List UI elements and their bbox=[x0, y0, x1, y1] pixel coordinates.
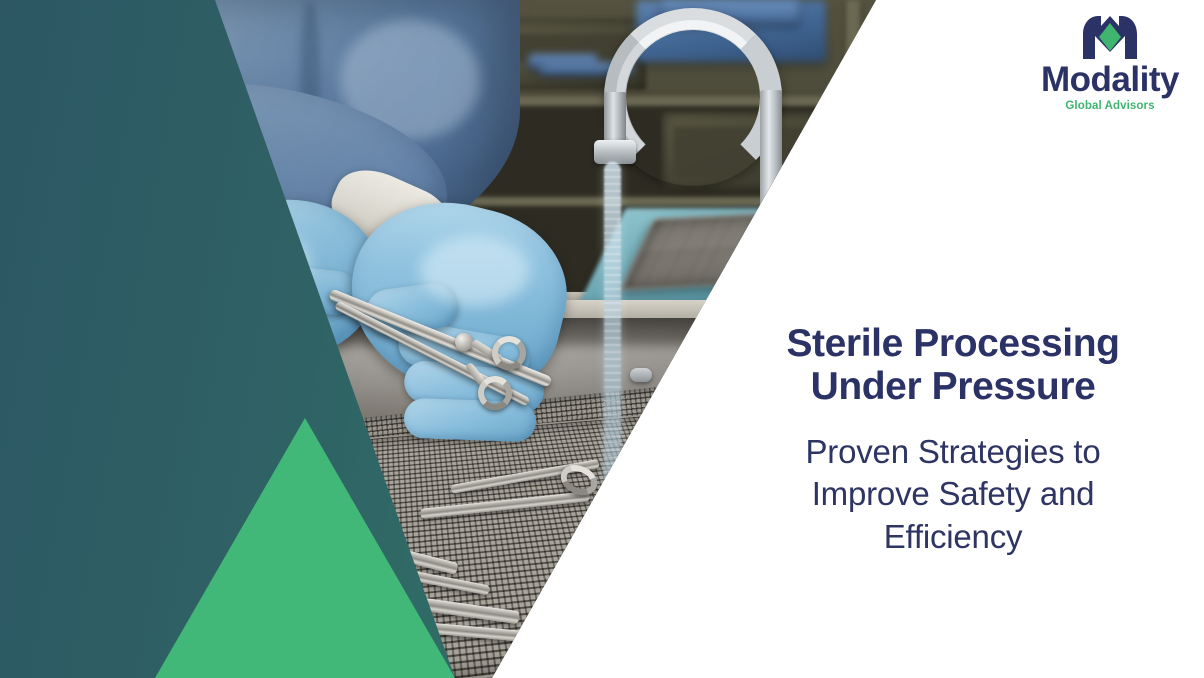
instrument-tray-upper bbox=[619, 206, 900, 291]
faucet-arc-highlight bbox=[616, 20, 770, 174]
glove-finger bbox=[403, 398, 536, 443]
hero-copy: Sterile Processing Under Pressure Proven… bbox=[712, 322, 1194, 559]
brand-logo[interactable]: Modality Global Advisors bbox=[1032, 14, 1188, 112]
hero-headline-line-1: Sterile Processing bbox=[786, 322, 1119, 365]
brand-tagline: Global Advisors bbox=[1032, 100, 1188, 112]
hero-subheadline: Proven Strategies to Improve Safety and … bbox=[712, 431, 1194, 560]
glove-highlight bbox=[420, 236, 530, 306]
hemostat-pivot bbox=[455, 333, 473, 351]
faucet-aerator-collar bbox=[594, 140, 636, 164]
hemostat-finger-ring bbox=[492, 336, 526, 370]
hero-subheadline-line-3: Efficiency bbox=[884, 518, 1023, 555]
shelf-rail bbox=[430, 196, 860, 207]
hero-subheadline-line-1: Proven Strategies to bbox=[806, 433, 1101, 470]
hemostat-finger-ring bbox=[478, 376, 512, 410]
sink-drain-knob bbox=[630, 368, 652, 382]
brand-wordmark: Modality bbox=[1032, 62, 1188, 97]
modality-m-diamond-logo-icon bbox=[1081, 14, 1139, 60]
shelf-rail bbox=[846, 0, 860, 300]
hero-headline-line-2: Under Pressure bbox=[811, 365, 1096, 408]
hero-banner: Modality Global Advisors Sterile Process… bbox=[0, 0, 1204, 678]
water-stream-texture bbox=[604, 162, 621, 582]
hero-subheadline-line-2: Improve Safety and bbox=[812, 475, 1095, 512]
faucet-riser bbox=[760, 90, 782, 220]
hero-headline: Sterile Processing Under Pressure bbox=[712, 322, 1194, 409]
